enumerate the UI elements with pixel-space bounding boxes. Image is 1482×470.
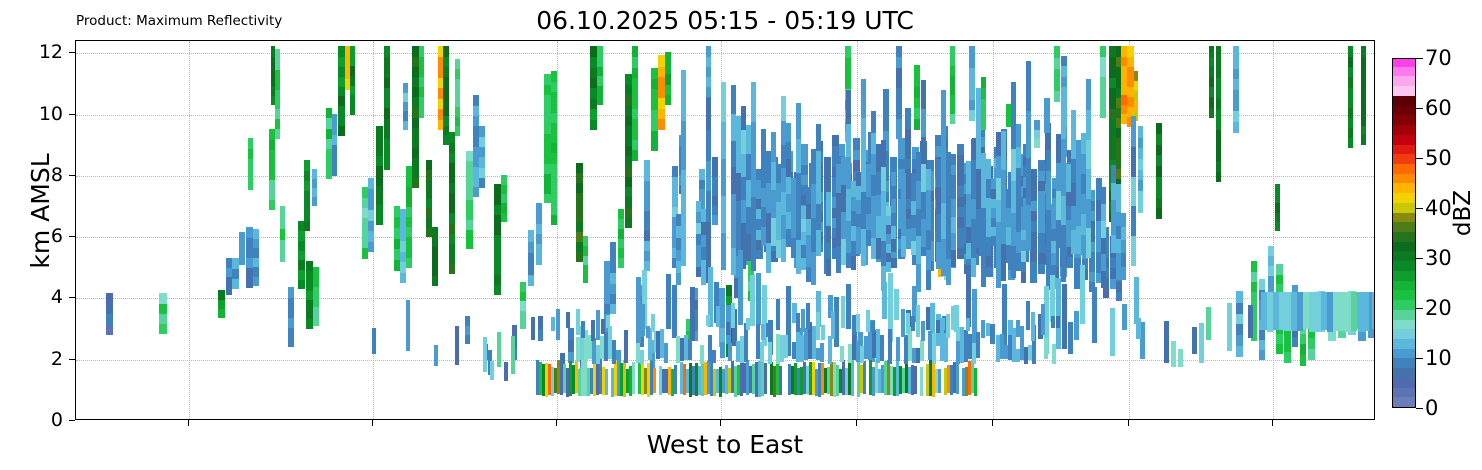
- reflectivity-cell: [1109, 129, 1116, 140]
- colorbar-tick-mark: [1416, 308, 1423, 309]
- reflectivity-cell: [269, 189, 275, 200]
- reflectivity-cell: [479, 126, 485, 137]
- reflectivity-cell: [1227, 303, 1232, 351]
- reflectivity-cell: [1089, 261, 1095, 272]
- reflectivity-cell: [248, 158, 253, 169]
- reflectivity-cell: [590, 88, 597, 99]
- reflectivity-cell: [288, 327, 294, 338]
- reflectivity-cell: [796, 313, 800, 331]
- reflectivity-cell: [288, 307, 294, 318]
- reflectivity-cell: [1127, 66, 1134, 77]
- reflectivity-cell: [269, 169, 275, 180]
- y-tick-label: 8: [51, 166, 63, 185]
- reflectivity-cell: [332, 124, 337, 135]
- reflectivity-cell: [275, 89, 280, 100]
- reflectivity-cell: [106, 324, 113, 335]
- reflectivity-cell: [544, 94, 551, 105]
- reflectivity-cell: [1259, 339, 1265, 350]
- reflectivity-cell: [306, 319, 313, 329]
- reflectivity-cell: [1026, 301, 1030, 331]
- reflectivity-cell: [976, 332, 980, 358]
- reflectivity-cell: [1030, 220, 1037, 231]
- reflectivity-cell: [432, 227, 438, 237]
- reflectivity-cell: [1101, 253, 1106, 271]
- reflectivity-cell: [306, 261, 313, 271]
- reflectivity-cell: [544, 153, 551, 164]
- reflectivity-cell: [706, 159, 711, 191]
- reflectivity-cell: [1038, 263, 1045, 274]
- reflectivity-cell: [1109, 108, 1116, 119]
- reflectivity-cell: [938, 369, 941, 393]
- reflectivity-cell: [1348, 46, 1353, 57]
- reflectivity-cell: [891, 199, 896, 213]
- reflectivity-cell: [253, 229, 259, 239]
- reflectivity-cell: [969, 46, 975, 57]
- reflectivity-cell: [473, 105, 479, 116]
- reflectivity-cell: [473, 95, 479, 106]
- reflectivity-cell: [771, 132, 776, 162]
- reflectivity-cell: [1199, 323, 1204, 363]
- reflectivity-cell: [905, 158, 911, 169]
- reflectivity-cell: [610, 242, 616, 253]
- reflectivity-cell: [1259, 329, 1265, 340]
- reflectivity-cell: [826, 225, 831, 243]
- reflectivity-cell: [1216, 109, 1221, 120]
- reflectivity-cell: [1044, 98, 1050, 110]
- reflectivity-cell: [1068, 322, 1073, 354]
- reflectivity-cell: [368, 220, 374, 231]
- reflectivity-cell: [1233, 68, 1239, 80]
- reflectivity-cell: [306, 290, 313, 300]
- colorbar-segment: [1393, 66, 1415, 76]
- reflectivity-cell: [1209, 77, 1214, 88]
- reflectivity-cell: [384, 128, 390, 139]
- reflectivity-cell: [898, 148, 905, 159]
- reflectivity-cell: [1136, 318, 1141, 340]
- reflectivity-cell: [950, 46, 955, 56]
- reflectivity-cell: [403, 111, 408, 121]
- reflectivity-cell: [839, 144, 845, 155]
- reflectivity-cell: [288, 317, 294, 328]
- reflectivity-cell: [706, 220, 711, 252]
- reflectivity-cell: [368, 241, 374, 252]
- reflectivity-cell: [376, 175, 383, 186]
- reflectivity-cell: [159, 303, 167, 314]
- reflectivity-cell: [280, 206, 285, 218]
- reflectivity-cell: [905, 128, 911, 139]
- reflectivity-cell: [1109, 67, 1116, 78]
- reflectivity-cell: [1308, 337, 1315, 349]
- reflectivity-cell: [950, 75, 955, 85]
- reflectivity-cell: [1284, 351, 1291, 363]
- reflectivity-cell: [1109, 149, 1116, 160]
- reflectivity-cell: [981, 98, 986, 109]
- reflectivity-cell: [1156, 144, 1162, 155]
- reflectivity-cell: [1046, 150, 1051, 171]
- reflectivity-cell: [332, 134, 337, 145]
- reflectivity-cell: [1276, 274, 1283, 285]
- reflectivity-cell: [832, 135, 839, 146]
- reflectivity-cell: [1109, 46, 1116, 57]
- reflectivity-cell: [246, 257, 253, 268]
- reflectivity-cell: [665, 52, 671, 63]
- reflectivity-cell: [706, 46, 711, 57]
- reflectivity-cell: [159, 313, 167, 324]
- reflectivity-cell: [1134, 90, 1138, 101]
- reflectivity-cell: [951, 199, 956, 217]
- reflectivity-cell: [1275, 212, 1280, 222]
- reflectivity-cell: [1275, 221, 1280, 231]
- reflectivity-cell: [597, 66, 603, 76]
- reflectivity-cell: [618, 218, 624, 228]
- reflectivity-cell: [1284, 330, 1291, 342]
- reflectivity-cell: [1233, 46, 1239, 58]
- reflectivity-cell: [576, 251, 583, 262]
- reflectivity-cell: [1121, 252, 1126, 266]
- reflectivity-cell: [434, 345, 438, 366]
- reflectivity-cell: [1121, 239, 1126, 253]
- reflectivity-cell: [816, 124, 821, 152]
- reflectivity-cell: [350, 66, 355, 76]
- reflectivity-cell: [1156, 165, 1162, 176]
- reflectivity-cell: [871, 111, 876, 133]
- reflectivity-cell: [583, 246, 588, 256]
- reflectivity-cell: [520, 282, 526, 292]
- reflectivity-cell: [957, 227, 964, 238]
- reflectivity-cell: [616, 350, 621, 361]
- reflectivity-cell: [1276, 333, 1283, 344]
- reflectivity-cell: [706, 56, 711, 67]
- reflectivity-cell: [706, 189, 711, 221]
- reflectivity-cell: [625, 74, 632, 85]
- reflectivity-cell: [583, 273, 588, 283]
- reflectivity-cell: [946, 152, 951, 180]
- reflectivity-cell: [841, 296, 845, 328]
- reflectivity-cell: [218, 290, 225, 300]
- reflectivity-cell: [479, 177, 485, 188]
- reflectivity-cell: [432, 266, 438, 276]
- reflectivity-cell: [1236, 334, 1243, 346]
- reflectivity-cell: [384, 159, 390, 170]
- colorbar-segment: [1393, 222, 1415, 232]
- reflectivity-cell: [926, 307, 930, 329]
- reflectivity-cell: [846, 284, 851, 329]
- reflectivity-cell: [796, 137, 801, 173]
- reflectivity-cell: [1361, 56, 1366, 67]
- reflectivity-cell: [1034, 129, 1040, 139]
- reflectivity-cell: [304, 220, 310, 231]
- reflectivity-cell: [665, 73, 671, 84]
- reflectivity-cell: [1127, 86, 1134, 97]
- reflectivity-cell: [1092, 287, 1097, 342]
- reflectivity-cell: [304, 180, 310, 191]
- reflectivity-cell: [449, 203, 455, 214]
- reflectivity-cell: [1116, 184, 1121, 198]
- reflectivity-cell: [905, 148, 911, 159]
- reflectivity-cell: [883, 99, 889, 110]
- reflectivity-cell: [1100, 97, 1106, 108]
- reflectivity-cell: [583, 236, 588, 246]
- reflectivity-cell: [846, 90, 851, 124]
- reflectivity-cell: [894, 289, 899, 321]
- reflectivity-cell: [218, 299, 225, 309]
- reflectivity-cell: [896, 118, 902, 129]
- reflectivity-cell: [239, 232, 245, 244]
- reflectivity-cell: [312, 197, 317, 207]
- reflectivity-cell: [826, 208, 831, 226]
- reflectivity-cell: [1030, 179, 1037, 190]
- reflectivity-cell: [596, 310, 600, 341]
- colorbar-tick-label: 40: [1425, 198, 1452, 219]
- reflectivity-cell: [1030, 251, 1037, 262]
- reflectivity-cell: [455, 78, 460, 88]
- colorbar-segment: [1393, 377, 1415, 387]
- reflectivity-cell: [610, 303, 616, 314]
- reflectivity-cell: [1131, 205, 1136, 237]
- reflectivity-cell: [1131, 116, 1136, 148]
- reflectivity-cell: [1038, 180, 1045, 191]
- reflectivity-cell: [665, 63, 671, 74]
- reflectivity-cell: [1192, 327, 1197, 354]
- reflectivity-cell: [1121, 226, 1126, 240]
- reflectivity-cell: [455, 87, 460, 97]
- reflectivity-cell: [1030, 210, 1037, 221]
- reflectivity-cell: [969, 109, 975, 120]
- reflectivity-cell: [449, 182, 455, 193]
- reflectivity-cell: [950, 56, 955, 66]
- reflectivity-cell: [916, 305, 920, 336]
- reflectivity-cell: [376, 204, 383, 215]
- colorbar-segment: [1393, 338, 1415, 348]
- reflectivity-cell: [531, 317, 535, 340]
- reflectivity-cell: [1233, 89, 1239, 101]
- reflectivity-cell: [632, 129, 638, 140]
- reflectivity-cell: [494, 184, 501, 195]
- reflectivity-cell: [551, 142, 557, 153]
- reflectivity-cell: [520, 301, 526, 311]
- reflectivity-cell: [1209, 97, 1214, 108]
- reflectivity-cell: [891, 238, 896, 252]
- reflectivity-cell: [544, 173, 551, 184]
- reflectivity-cell: [1021, 250, 1026, 261]
- reflectivity-cell: [1358, 331, 1366, 342]
- reflectivity-cell: [350, 104, 355, 114]
- reflectivity-cell: [610, 253, 616, 264]
- reflectivity-cell: [1216, 88, 1221, 99]
- reflectivity-cell: [896, 337, 900, 361]
- x-tick-mark: [1128, 420, 1129, 426]
- reflectivity-cell: [886, 252, 891, 262]
- reflectivity-cell: [625, 94, 632, 105]
- reflectivity-cell: [905, 138, 911, 149]
- colorbar-segment: [1393, 329, 1415, 339]
- reflectivity-cell: [376, 214, 383, 225]
- reflectivity-cell: [1361, 105, 1366, 116]
- reflectivity-cell: [1056, 316, 1060, 328]
- reflectivity-cell: [1156, 133, 1162, 144]
- reflectivity-cell: [1268, 255, 1274, 266]
- reflectivity-cell: [1054, 57, 1060, 69]
- reflectivity-cell: [368, 189, 374, 200]
- reflectivity-cell: [551, 183, 557, 194]
- reflectivity-cell: [1138, 169, 1143, 181]
- reflectivity-cell: [625, 105, 632, 116]
- reflectivity-cell: [784, 335, 788, 359]
- reflectivity-cell: [721, 156, 726, 195]
- reflectivity-cell: [304, 210, 310, 221]
- reflectivity-cell: [1138, 137, 1143, 149]
- reflectivity-cell: [1016, 167, 1021, 190]
- reflectivity-cell: [665, 94, 671, 105]
- reflectivity-cell: [494, 264, 501, 275]
- reflectivity-cell: [950, 94, 955, 104]
- reflectivity-cell: [332, 165, 337, 176]
- colorbar-segment: [1393, 368, 1415, 378]
- reflectivity-cell: [1127, 56, 1134, 67]
- reflectivity-cell: [1016, 124, 1021, 147]
- reflectivity-cell: [1284, 340, 1291, 352]
- reflectivity-cell: [1080, 265, 1085, 323]
- reflectivity-cell: [350, 56, 355, 66]
- reflectivity-cell: [1134, 81, 1138, 92]
- reflectivity-cell: [1236, 324, 1243, 336]
- reflectivity-cell: [921, 135, 926, 164]
- reflectivity-cell: [1348, 117, 1353, 128]
- reflectivity-cell: [412, 97, 419, 108]
- reflectivity-cell: [1121, 213, 1126, 227]
- reflectivity-cell: [632, 67, 638, 78]
- reflectivity-cell: [1086, 226, 1091, 257]
- reflectivity-cell: [956, 361, 959, 395]
- colorbar-segment: [1393, 115, 1415, 125]
- reflectivity-cell: [1216, 77, 1221, 88]
- colorbar-segment: [1393, 58, 1415, 67]
- reflectivity-cell: [666, 274, 671, 329]
- reflectivity-cell: [896, 87, 902, 98]
- reflectivity-cell: [1275, 193, 1280, 203]
- reflectivity-cell: [781, 96, 786, 121]
- reflectivity-cell: [412, 147, 419, 158]
- colorbar-segment: [1393, 163, 1415, 173]
- reflectivity-cell: [443, 66, 449, 77]
- reflectivity-cell: [1348, 127, 1353, 138]
- reflectivity-cell: [298, 240, 305, 250]
- reflectivity-cell: [651, 88, 658, 99]
- reflectivity-cell: [632, 108, 638, 119]
- reflectivity-cell: [590, 46, 597, 57]
- reflectivity-cell: [466, 151, 473, 162]
- reflectivity-cell: [275, 128, 280, 139]
- reflectivity-cell: [376, 136, 383, 147]
- reflectivity-cell: [350, 46, 355, 56]
- reflectivity-cell: [966, 318, 970, 331]
- reflectivity-cell: [1308, 348, 1315, 360]
- reflectivity-cell: [443, 46, 449, 57]
- reflectivity-cell: [1101, 203, 1106, 221]
- reflectivity-cell: [544, 74, 551, 85]
- reflectivity-cell: [1061, 252, 1066, 282]
- reflectivity-cell: [406, 247, 412, 258]
- reflectivity-cell: [760, 342, 764, 362]
- reflectivity-cell: [479, 167, 485, 178]
- reflectivity-cell: [1251, 291, 1257, 302]
- reflectivity-cell: [520, 292, 526, 302]
- reflectivity-cell: [674, 365, 677, 394]
- reflectivity-cell: [304, 170, 310, 181]
- reflectivity-cell: [406, 237, 412, 248]
- reflectivity-cell: [1236, 345, 1243, 357]
- reflectivity-cell: [583, 264, 588, 274]
- reflectivity-cell: [625, 156, 632, 167]
- reflectivity-cell: [1372, 292, 1375, 329]
- reflectivity-cell: [1086, 197, 1091, 228]
- reflectivity-cell: [501, 203, 507, 213]
- reflectivity-cell: [1100, 46, 1106, 57]
- reflectivity-cell: [1361, 125, 1366, 136]
- reflectivity-cell: [576, 192, 583, 203]
- reflectivity-cell: [1101, 220, 1106, 238]
- reflectivity-cell: [1216, 67, 1221, 78]
- reflectivity-cell: [304, 190, 310, 201]
- reflectivity-cell: [672, 285, 677, 338]
- reflectivity-cell: [658, 55, 665, 66]
- reflectivity-cell: [1016, 320, 1020, 337]
- reflectivity-cell: [672, 176, 678, 187]
- reflectivity-cell: [951, 249, 956, 267]
- reflectivity-cell: [568, 339, 574, 351]
- reflectivity-cell: [253, 257, 259, 267]
- reflectivity-cell: [1236, 313, 1243, 325]
- reflectivity-cell: [658, 66, 665, 77]
- reflectivity-cell: [1138, 158, 1143, 170]
- reflectivity-cell: [658, 76, 665, 87]
- reflectivity-cell: [449, 263, 455, 274]
- reflectivity-cell: [951, 306, 955, 331]
- reflectivity-cell: [1109, 139, 1116, 150]
- reflectivity-cell: [1216, 46, 1221, 57]
- reflectivity-cell: [384, 77, 390, 88]
- reflectivity-cell: [618, 257, 624, 267]
- reflectivity-cell: [706, 98, 711, 130]
- reflectivity-cell: [1127, 96, 1134, 107]
- reflectivity-cell: [551, 153, 557, 164]
- reflectivity-cell: [883, 89, 889, 100]
- reflectivity-cell: [1100, 107, 1106, 118]
- reflectivity-cell: [538, 316, 543, 329]
- reflectivity-cell: [288, 297, 294, 308]
- reflectivity-cell: [406, 196, 412, 207]
- reflectivity-cell: [926, 209, 931, 230]
- reflectivity-cell: [1030, 200, 1037, 211]
- reflectivity-cell: [520, 319, 526, 329]
- reflectivity-cell: [926, 249, 931, 270]
- reflectivity-cell: [851, 359, 854, 396]
- reflectivity-cell: [501, 193, 507, 203]
- reflectivity-cell: [1041, 304, 1045, 335]
- page-title: 06.10.2025 05:15 - 05:19 UTC: [75, 6, 1375, 36]
- reflectivity-cell: [576, 212, 583, 223]
- reflectivity-cell: [618, 209, 624, 219]
- reflectivity-cell: [412, 46, 419, 57]
- reflectivity-cell: [863, 361, 866, 393]
- reflectivity-cell: [882, 282, 887, 320]
- reflectivity-cell: [1121, 266, 1126, 280]
- reflectivity-cell: [1361, 76, 1366, 87]
- reflectivity-cell: [824, 167, 831, 178]
- reflectivity-cell: [911, 316, 915, 331]
- reflectivity-cell: [384, 148, 390, 159]
- reflectivity-cell: [651, 109, 658, 120]
